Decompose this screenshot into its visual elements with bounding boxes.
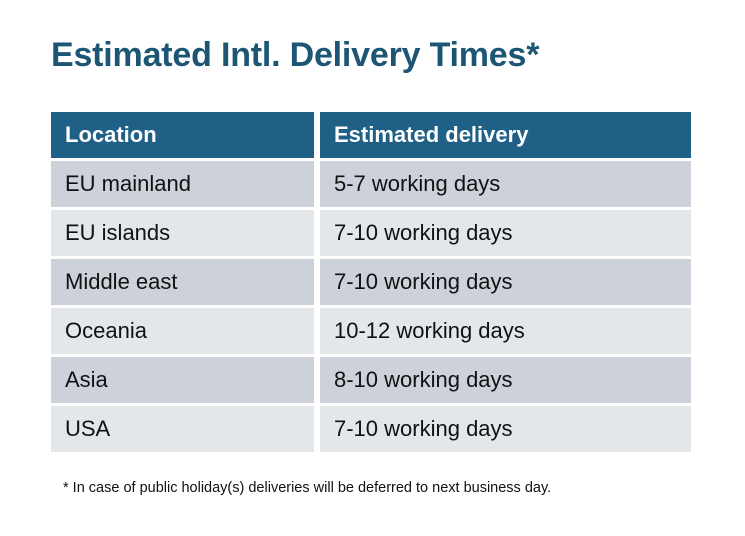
cell-location: EU islands <box>51 210 314 256</box>
table-header-row: Location Estimated delivery <box>51 112 691 158</box>
cell-location: USA <box>51 406 314 452</box>
cell-location: Asia <box>51 357 314 403</box>
column-header-location: Location <box>51 112 314 158</box>
delivery-times-table: Location Estimated delivery EU mainland … <box>51 112 691 452</box>
table-row: EU islands 7-10 working days <box>51 210 691 256</box>
cell-delivery: 7-10 working days <box>320 210 691 256</box>
table-row: Asia 8-10 working days <box>51 357 691 403</box>
page-title: Estimated Intl. Delivery Times* <box>51 36 539 75</box>
delivery-times-page: Estimated Intl. Delivery Times* Location… <box>0 0 745 536</box>
cell-delivery: 7-10 working days <box>320 259 691 305</box>
table-row: Oceania 10-12 working days <box>51 308 691 354</box>
cell-location: Middle east <box>51 259 314 305</box>
table-row: Middle east 7-10 working days <box>51 259 691 305</box>
cell-delivery: 8-10 working days <box>320 357 691 403</box>
footnote-text: * In case of public holiday(s) deliverie… <box>63 480 551 496</box>
cell-delivery: 5-7 working days <box>320 161 691 207</box>
cell-location: EU mainland <box>51 161 314 207</box>
column-header-estimated-delivery: Estimated delivery <box>320 112 691 158</box>
cell-delivery: 10-12 working days <box>320 308 691 354</box>
table-row: EU mainland 5-7 working days <box>51 161 691 207</box>
cell-location: Oceania <box>51 308 314 354</box>
cell-delivery: 7-10 working days <box>320 406 691 452</box>
table-row: USA 7-10 working days <box>51 406 691 452</box>
